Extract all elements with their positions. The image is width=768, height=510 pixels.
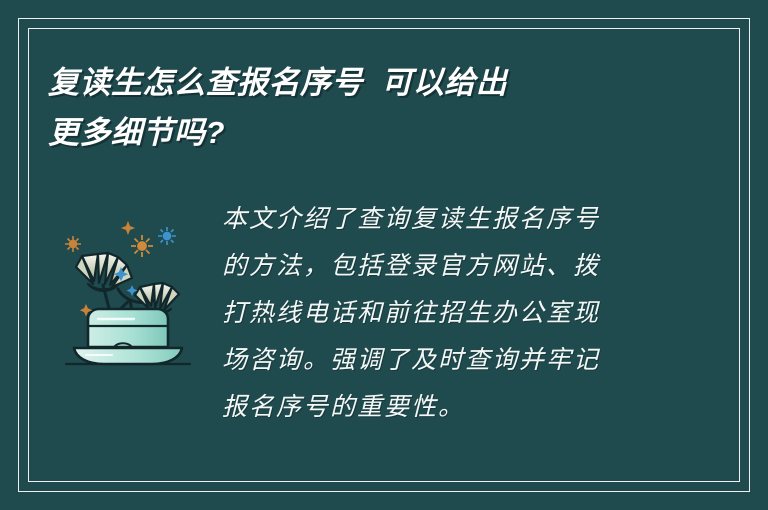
pot-saucer xyxy=(74,348,182,364)
title-line-2: 更多细节吗? xyxy=(48,108,708,158)
body-line-4: 场咨询。强调了及时查询并牢记 xyxy=(222,336,720,383)
body-line-5: 报名序号的重要性。 xyxy=(222,383,720,430)
body-line-3: 打热线电话和前往招生办公室现 xyxy=(222,289,720,336)
sparkle-orange-left xyxy=(65,236,81,252)
content-area: 本文介绍了查询复读生报名序号 的方法，包括登录官方网站、拨 打热线电话和前往招生… xyxy=(48,195,720,430)
page-title: 复读生怎么查报名序号 可以给出 更多细节吗? xyxy=(48,58,708,158)
sparkle-orange-center xyxy=(131,235,153,257)
sparkle-orange-small-top xyxy=(121,221,135,235)
flower-pot xyxy=(88,309,168,347)
article-summary: 本文介绍了查询复读生报名序号 的方法，包括登录官方网站、拨 打热线电话和前往招生… xyxy=(222,195,720,430)
body-line-2: 的方法，包括登录官方网站、拨 xyxy=(222,242,720,289)
title-line-1: 复读生怎么查报名序号 可以给出 xyxy=(48,58,708,108)
article-banner-card: 复读生怎么查报名序号 可以给出 更多细节吗? xyxy=(0,0,768,510)
sparkle-blue-right xyxy=(158,227,176,245)
body-line-1: 本文介绍了查询复读生报名序号 xyxy=(222,195,720,242)
potted-plant-illustration xyxy=(48,201,208,386)
